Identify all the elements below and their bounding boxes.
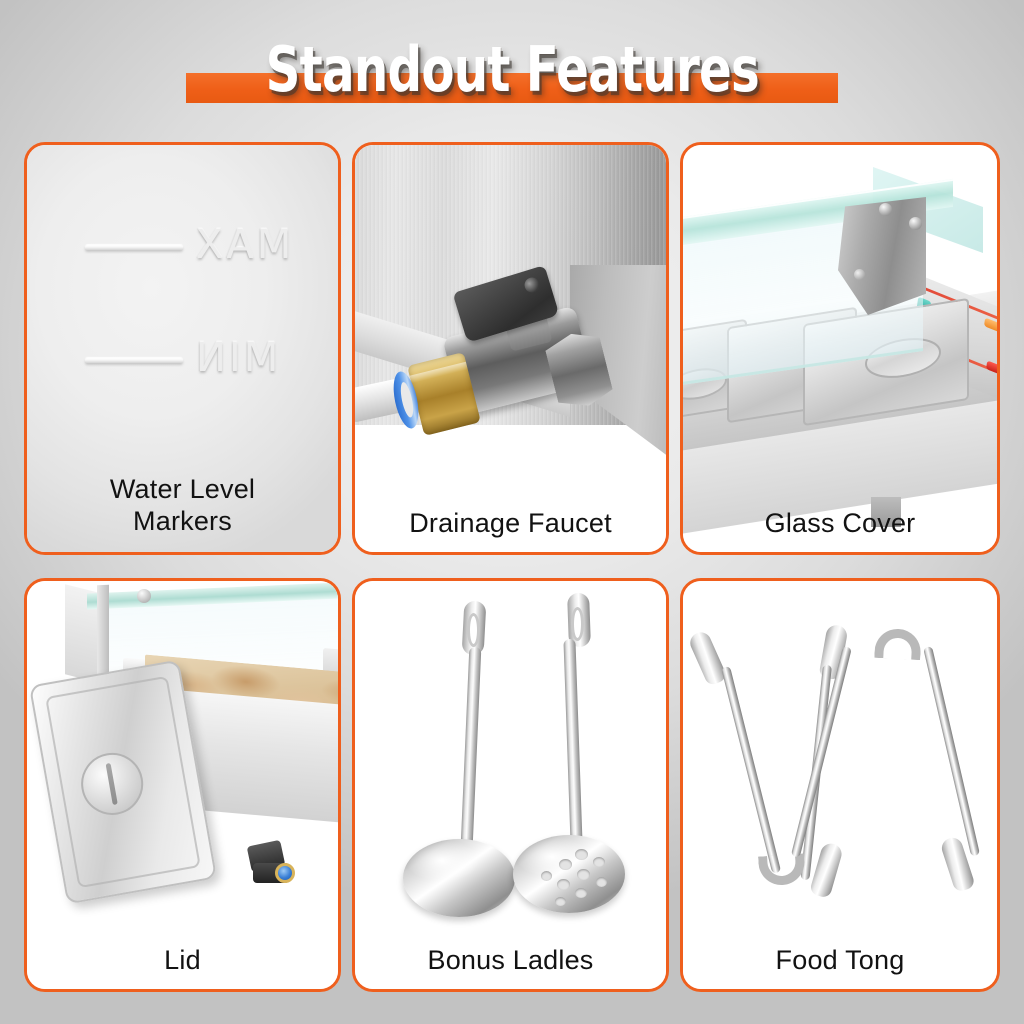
page-title: Standout Features	[0, 28, 1024, 118]
ladle-slot	[541, 871, 552, 881]
page-title-text: Standout Features	[262, 39, 762, 107]
tong-pivot-right	[874, 628, 922, 660]
glass-bracket-screw-1	[879, 203, 892, 216]
max-dash-line	[85, 245, 183, 250]
feature-card-food-tong[interactable]: Food Tong	[680, 578, 1000, 992]
food-tong-photo	[683, 581, 997, 989]
ladle-slot	[596, 877, 607, 887]
solid-ladle-bowl	[403, 839, 515, 917]
feature-card-lid[interactable]: Lid	[24, 578, 341, 992]
feature-caption-bonus-ladles: Bonus Ladles	[355, 945, 666, 977]
slotted-ladle-hanging-hole	[571, 607, 584, 641]
tong-tip-right-inner	[809, 841, 844, 899]
ladle-slot	[575, 888, 587, 898]
drain-valve-blue-collar	[275, 863, 295, 883]
drainage-faucet-photo	[355, 145, 666, 552]
tong-arm-right-outer	[923, 646, 980, 857]
feature-card-drainage-faucet[interactable]: Drainage Faucet	[352, 142, 669, 555]
tong-arm-left-outer	[721, 666, 781, 874]
ladle-slot	[577, 869, 590, 880]
caption-line-2: Markers	[27, 506, 338, 538]
solid-ladle-hanging-hole	[467, 613, 480, 647]
ladle-slot	[575, 849, 588, 860]
feature-caption-food-tong: Food Tong	[683, 945, 997, 977]
tong-pivot-left	[758, 853, 806, 886]
min-dash-line	[85, 358, 183, 363]
title-stack: Standout Features	[192, 39, 833, 107]
min-mark-group: MIN	[85, 330, 315, 390]
feature-caption-glass-cover: Glass Cover	[683, 508, 997, 540]
indicator-light-red-2	[986, 360, 997, 376]
ladle-slot	[559, 859, 572, 870]
max-label: MAX	[193, 222, 291, 268]
ladle-slot	[555, 897, 566, 906]
feature-caption-water-level-markers: Water Level Markers	[27, 474, 338, 538]
ladle-slot	[557, 879, 570, 890]
glass-cover-photo	[683, 145, 997, 552]
max-mark-group: MAX	[85, 217, 315, 277]
solid-ladle-handle	[461, 647, 482, 847]
tong-tip-left-outer	[687, 629, 728, 687]
feature-card-bonus-ladles[interactable]: Bonus Ladles	[352, 578, 669, 992]
lid-photo	[27, 581, 338, 989]
min-label: MIN	[193, 335, 278, 381]
slotted-ladle-handle	[563, 639, 582, 845]
lid-handle-recess	[76, 748, 148, 820]
bonus-ladles-photo	[355, 581, 666, 989]
glass-bracket-screw-2	[909, 217, 922, 230]
ladle-slot	[593, 857, 605, 867]
feature-caption-lid: Lid	[27, 945, 338, 977]
glass-cover-post	[97, 585, 109, 681]
feature-card-water-level-markers[interactable]: MAX MIN Water Level Markers	[24, 142, 341, 555]
feature-caption-drainage-faucet: Drainage Faucet	[355, 508, 666, 540]
glass-cover-screw	[137, 589, 151, 603]
feature-card-glass-cover[interactable]: Glass Cover	[680, 142, 1000, 555]
feature-infographic-page: Standout Features MAX MIN Water Level Ma…	[0, 0, 1024, 1024]
feature-grid: MAX MIN Water Level Markers	[24, 142, 1000, 992]
caption-line-1: Water Level	[27, 474, 338, 506]
slotted-ladle-bowl	[513, 835, 625, 913]
indicator-light-orange-2	[984, 318, 997, 334]
